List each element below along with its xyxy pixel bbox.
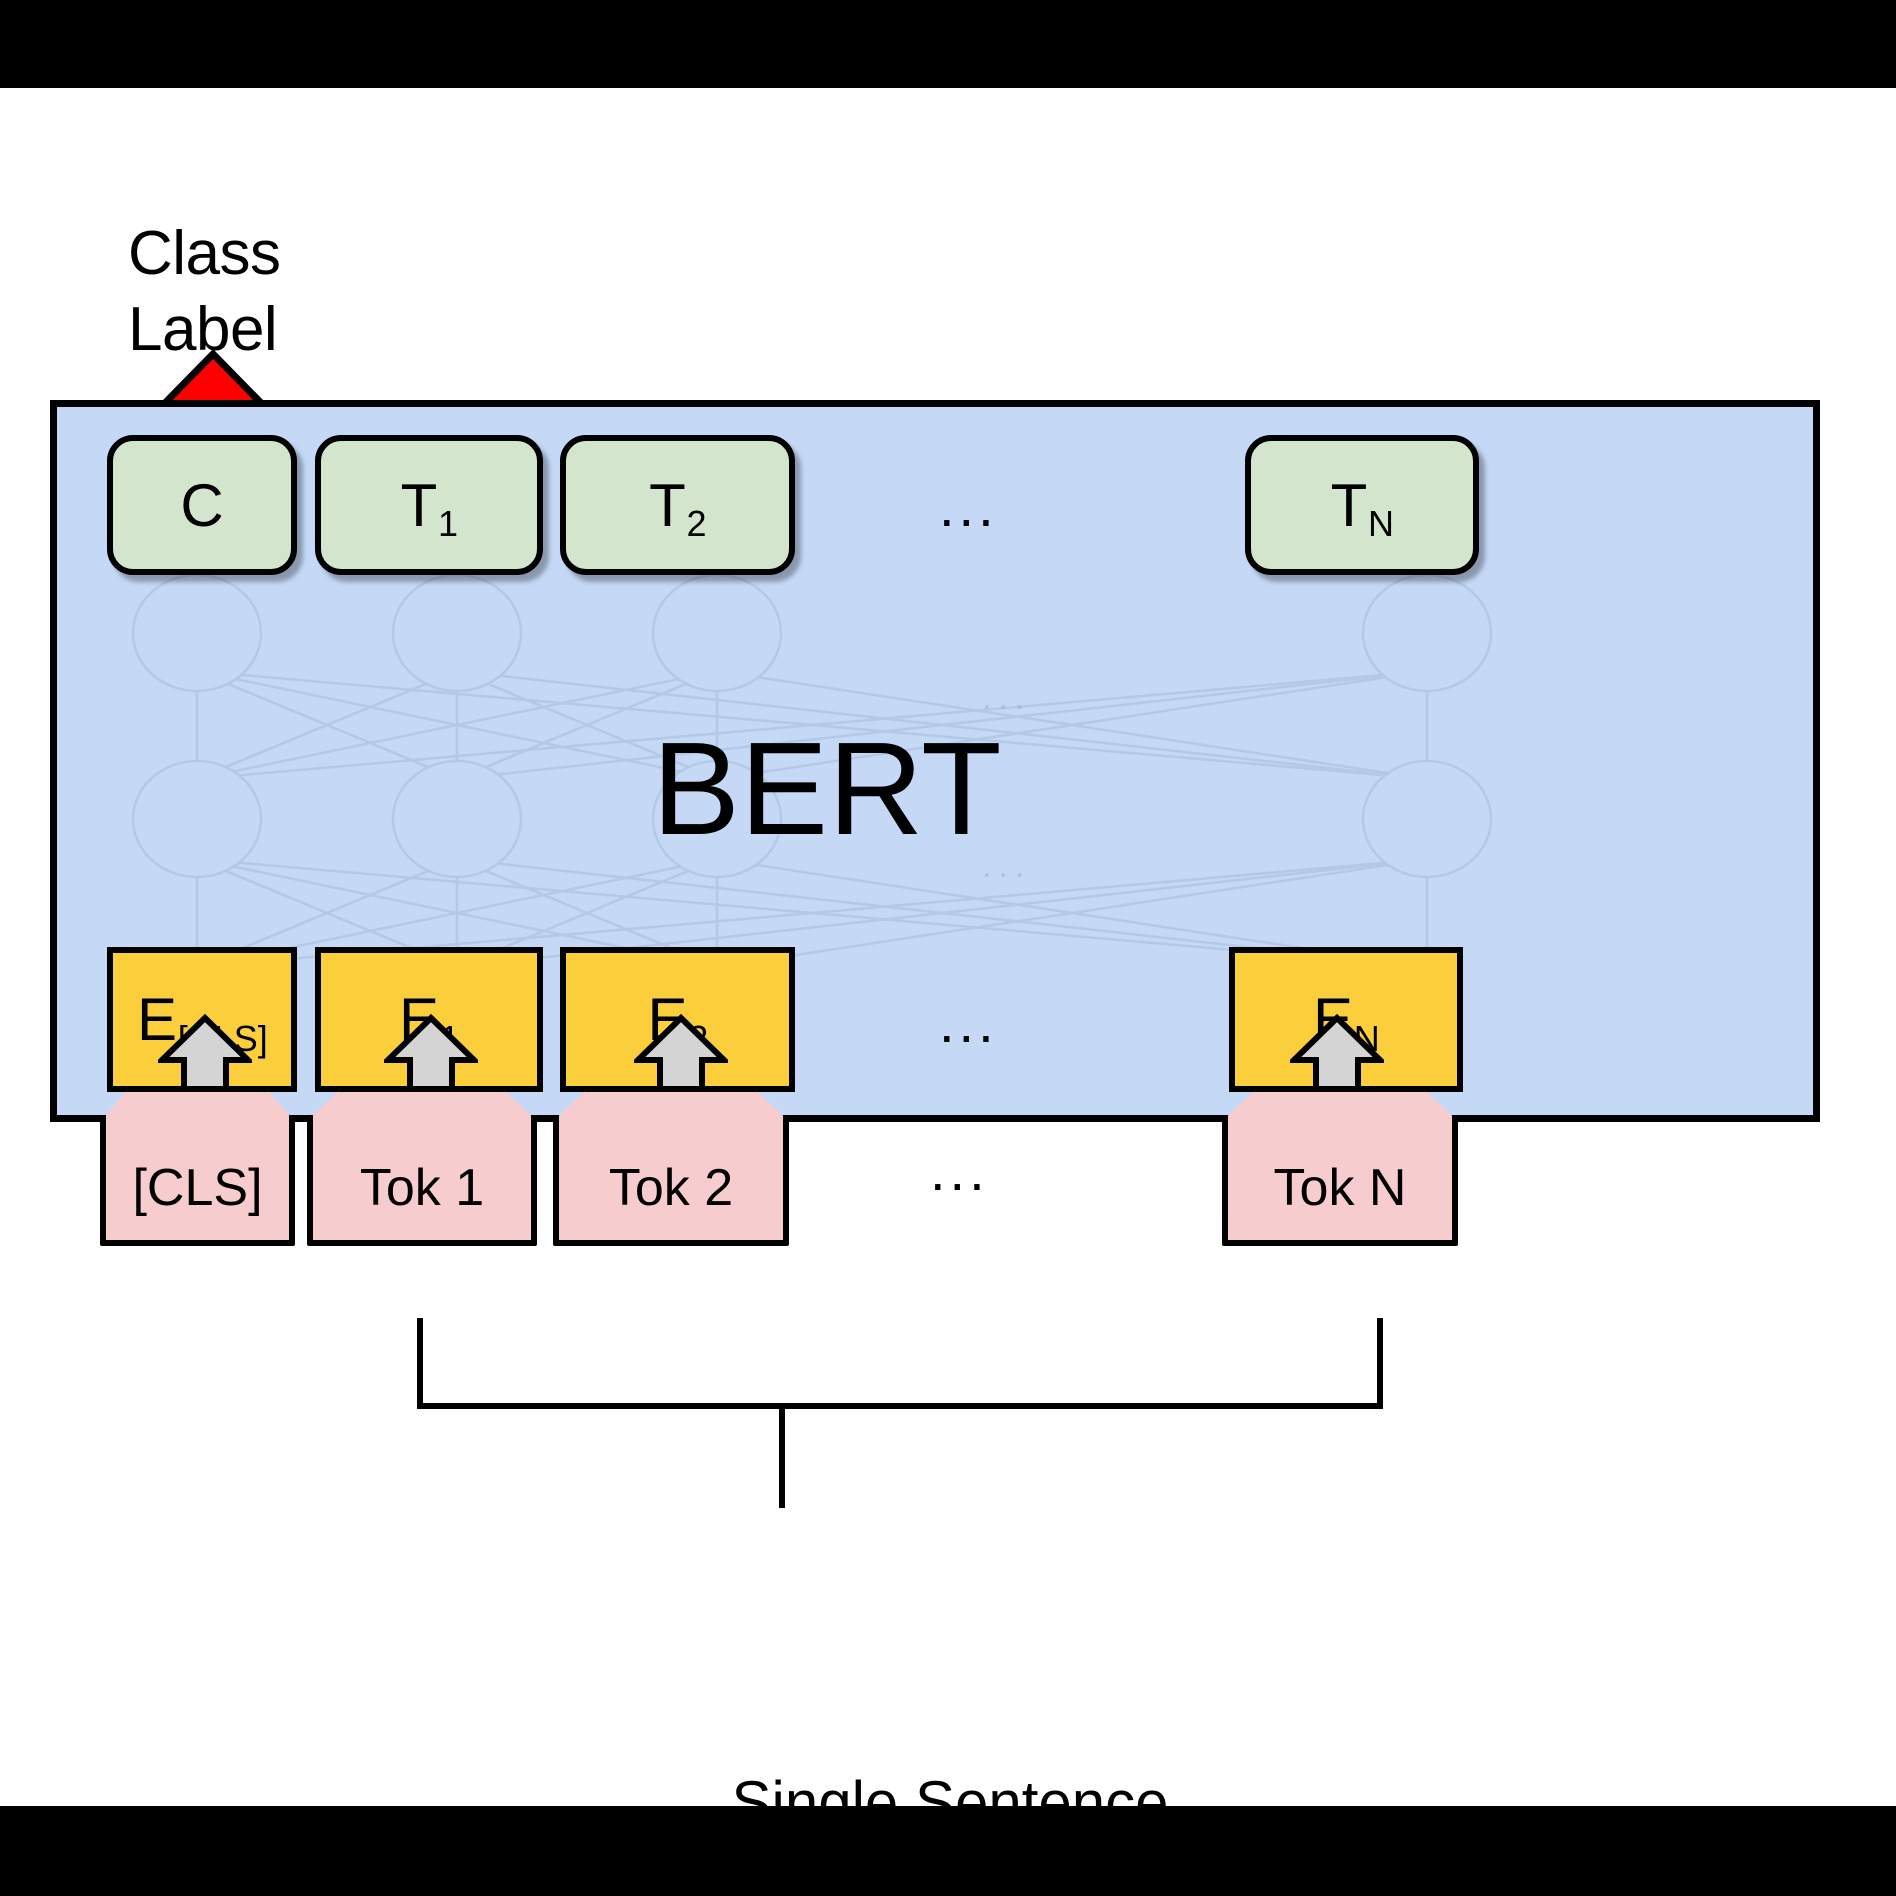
output-box-tn-label: TN bbox=[1331, 471, 1394, 540]
diagram-area: Class Label bbox=[0, 88, 1896, 1806]
token-box-tok1: Tok 1 bbox=[307, 1086, 537, 1246]
output-box-t1-label: T1 bbox=[401, 471, 458, 540]
single-sentence-label: Single Sentence bbox=[560, 1768, 1340, 1837]
network-ellipsis-upper: ... bbox=[982, 679, 1031, 718]
class-label-text: Class Label bbox=[128, 216, 528, 367]
output-box-tn: TN bbox=[1245, 435, 1479, 575]
bert-title: BERT bbox=[652, 723, 1002, 855]
output-row-ellipsis: ... bbox=[939, 479, 998, 535]
token-box-tokn-label: Tok N bbox=[1228, 1158, 1452, 1218]
output-box-t2-label: T2 bbox=[649, 471, 706, 540]
output-box-c: C bbox=[107, 435, 297, 575]
bert-encoder-panel: ... ... BERT C T1 T2 TN ... E[CLS] bbox=[50, 400, 1820, 1122]
letterbox-top bbox=[0, 0, 1896, 88]
token-box-tok1-label: Tok 1 bbox=[313, 1158, 531, 1218]
token-box-cls-label: [CLS] bbox=[106, 1158, 289, 1218]
output-box-t2: T2 bbox=[560, 435, 795, 575]
embedding-row-ellipsis: ... bbox=[939, 995, 998, 1051]
output-box-c-label: C bbox=[180, 471, 223, 540]
grouping-bracket-icon bbox=[370, 1318, 1430, 1518]
figure-canvas: Class Label bbox=[0, 0, 1896, 1896]
token-box-tokn: Tok N bbox=[1222, 1086, 1458, 1246]
output-box-t1: T1 bbox=[315, 435, 543, 575]
token-row-ellipsis: ... bbox=[930, 1143, 989, 1199]
token-box-cls: [CLS] bbox=[100, 1086, 295, 1246]
token-box-tok2-label: Tok 2 bbox=[559, 1158, 783, 1218]
token-box-tok2: Tok 2 bbox=[553, 1086, 789, 1246]
